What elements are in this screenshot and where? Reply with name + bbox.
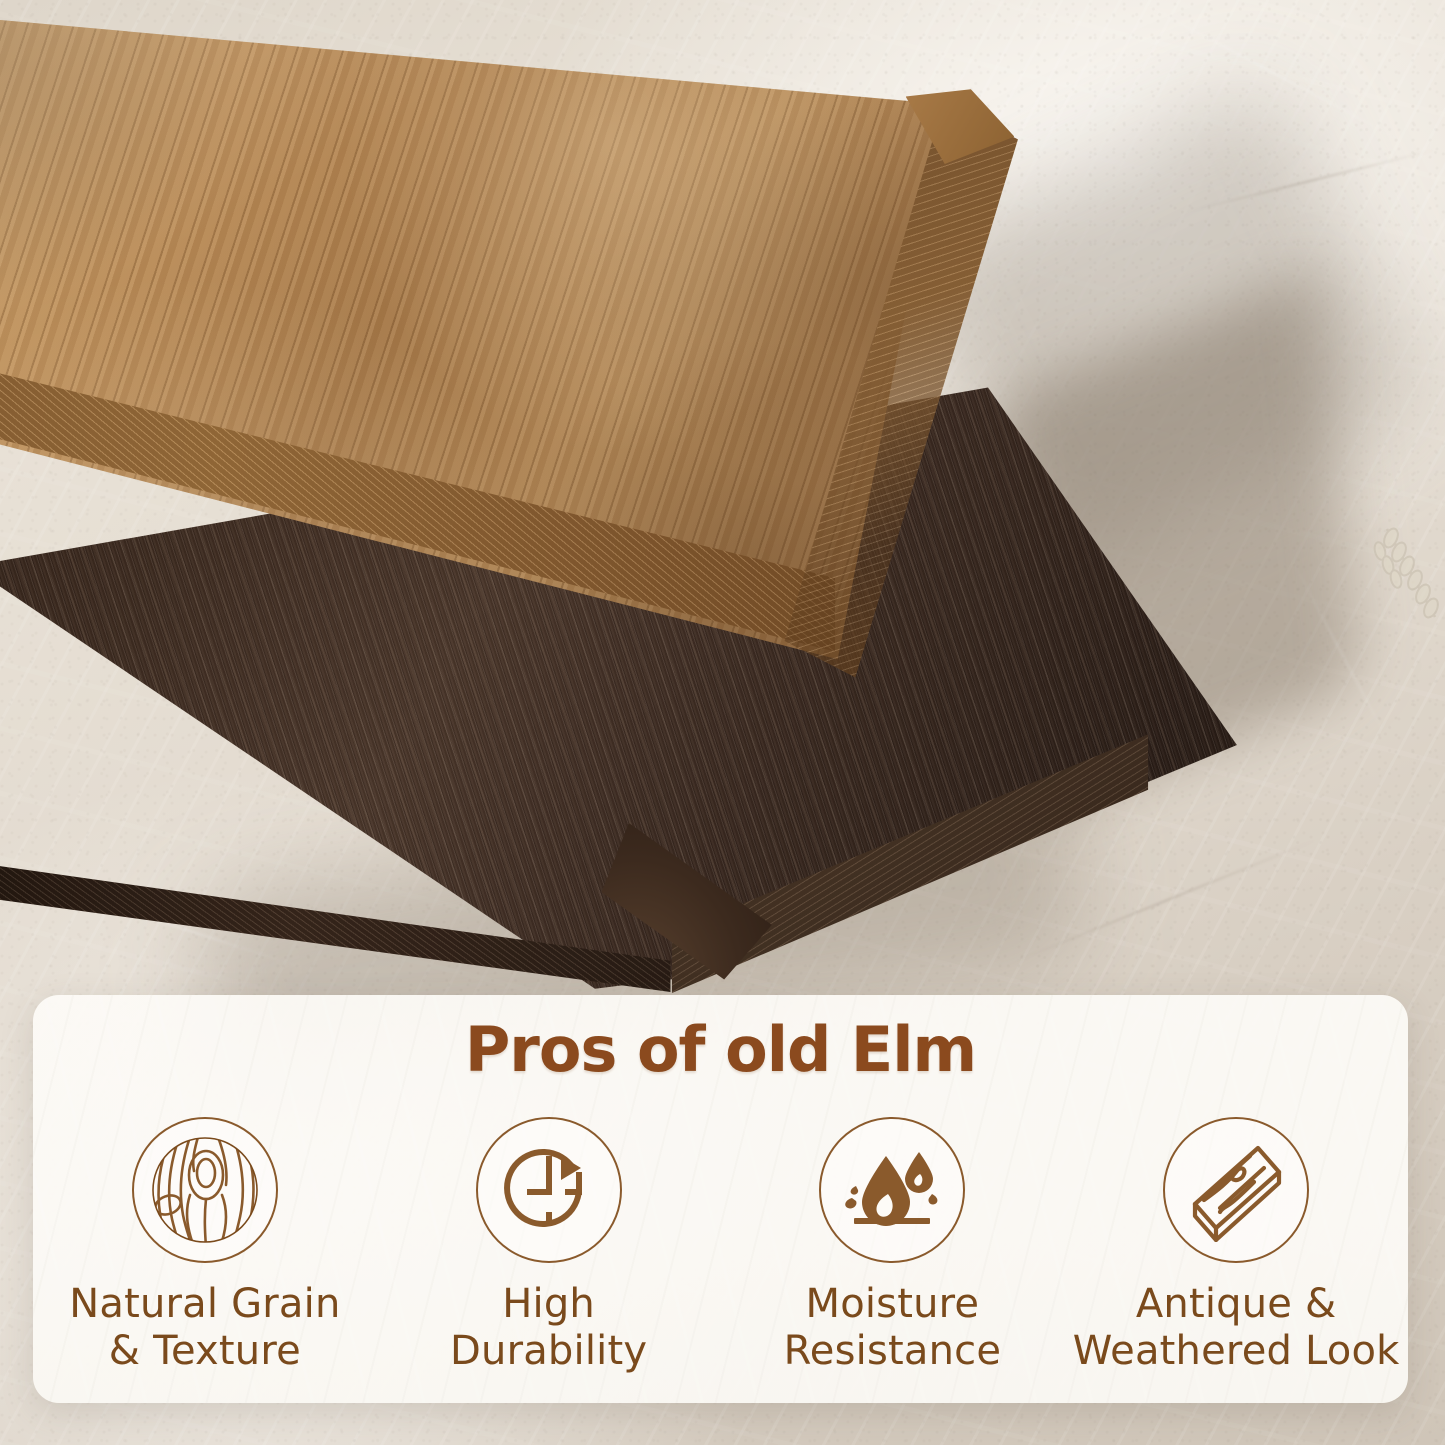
- feature-item-moisture-resistance[interactable]: Moisture Resistance: [721, 1117, 1065, 1375]
- wood-plank-icon: [1184, 1138, 1288, 1242]
- feature-icon-wrapper: [132, 1117, 278, 1263]
- feature-label: High Durability: [450, 1281, 647, 1375]
- clock-refresh-icon: [497, 1138, 601, 1242]
- feature-icon-wrapper: [819, 1117, 965, 1263]
- card-title: Pros of old Elm: [33, 1013, 1408, 1086]
- dried-sprig-icon: [1335, 505, 1445, 620]
- feature-list: Natural Grain & Texture: [33, 1117, 1408, 1375]
- feature-label: Antique & Weathered Look: [1073, 1281, 1400, 1375]
- feature-icon-wrapper: [1163, 1117, 1309, 1263]
- product-marketing-image: Pros of old Elm: [0, 0, 1445, 1445]
- feature-label: Moisture Resistance: [784, 1281, 1002, 1375]
- feature-item-antique-look[interactable]: Antique & Weathered Look: [1064, 1117, 1408, 1375]
- pros-info-card: Pros of old Elm: [33, 995, 1408, 1403]
- feature-label: Natural Grain & Texture: [69, 1281, 340, 1375]
- feature-item-natural-grain[interactable]: Natural Grain & Texture: [33, 1117, 377, 1375]
- water-droplet-icon: [840, 1138, 944, 1242]
- feature-item-high-durability[interactable]: High Durability: [377, 1117, 721, 1375]
- light-elm-board: [0, 0, 1130, 720]
- wood-grain-rings-icon: [150, 1135, 260, 1245]
- feature-icon-wrapper: [476, 1117, 622, 1263]
